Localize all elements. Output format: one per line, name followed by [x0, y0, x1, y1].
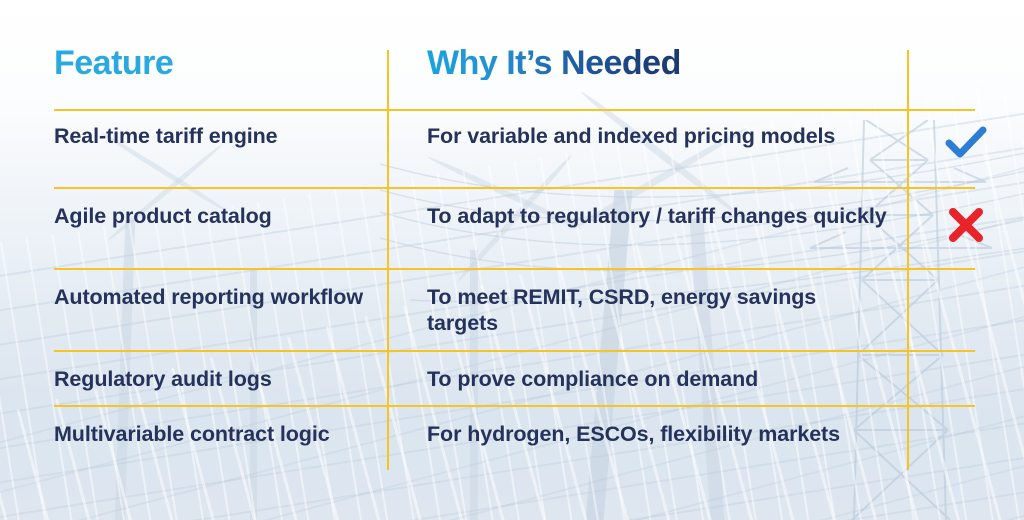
column-divider-2 [907, 50, 909, 470]
row-divider [54, 405, 975, 407]
table-row: To adapt to regulatory / tariff changes … [427, 203, 892, 229]
table-header-why-needed: Why It’s Needed [427, 46, 681, 80]
table-row: To prove compliance on demand [427, 366, 892, 392]
table-row: Real-time tariff engine [54, 123, 374, 149]
infographic-canvas: Feature Why It’s Needed Real-time tariff… [0, 0, 1024, 520]
table-row: Automated reporting workflow [54, 284, 374, 310]
table-row: Multivariable contract logic [54, 421, 374, 447]
table-row: For hydrogen, ESCOs, flexibility markets [427, 421, 892, 447]
table-row: For variable and indexed pricing models [427, 123, 892, 149]
table-header-feature: Feature [54, 46, 173, 80]
row-divider [54, 268, 975, 270]
row-divider [54, 350, 975, 352]
table-row: To meet REMIT, CSRD, energy savings targ… [427, 284, 892, 336]
check-icon [907, 126, 1024, 167]
row-divider [54, 109, 975, 111]
column-divider-1 [387, 50, 389, 470]
table-row: Agile product catalog [54, 203, 374, 229]
feature-table: Feature Why It’s Needed Real-time tariff… [0, 0, 1024, 520]
row-divider [54, 187, 975, 189]
table-row: Regulatory audit logs [54, 366, 374, 392]
cross-icon [907, 207, 1024, 250]
